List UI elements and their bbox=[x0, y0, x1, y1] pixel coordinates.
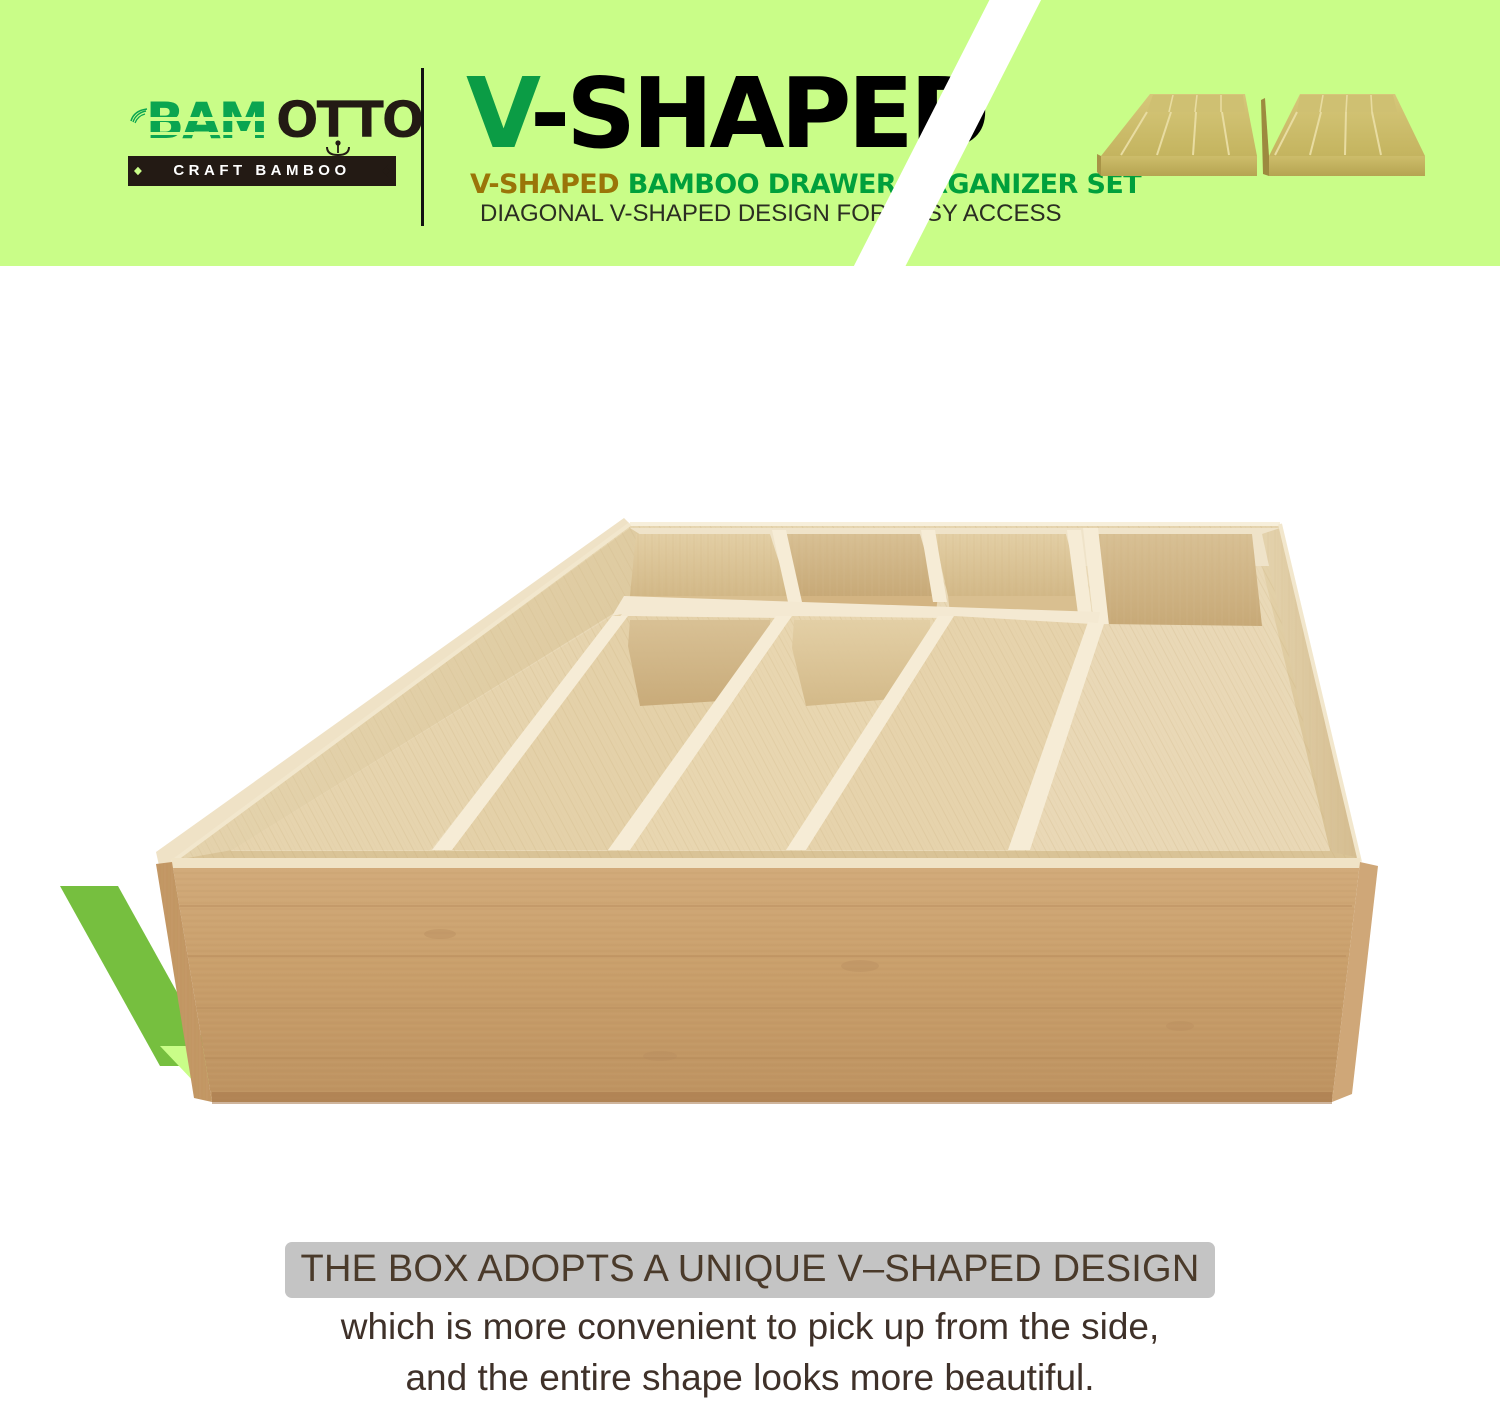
brand-name-green: BAM bbox=[146, 96, 267, 146]
product-infographic: BAM OTTO CRAFT BAMBOO V-SHA bbox=[0, 0, 1500, 1406]
page-title-accent: V bbox=[466, 57, 530, 170]
header-tagline: DIAGONAL V-SHAPED DESIGN FOR EASY ACCESS bbox=[480, 200, 1100, 228]
brand-wordmark: BAM OTTO bbox=[128, 96, 396, 154]
header-banner: BAM OTTO CRAFT BAMBOO V-SHA bbox=[0, 0, 1500, 266]
bamboo-segment-line-2 bbox=[146, 132, 274, 135]
brand-logo: BAM OTTO CRAFT BAMBOO bbox=[128, 96, 396, 188]
bamboo-segment-line-1 bbox=[146, 117, 274, 121]
header-divider bbox=[421, 68, 424, 226]
product-photo bbox=[0, 266, 1500, 1226]
brand-name-dark: OTTO bbox=[276, 95, 422, 145]
subtitle-prefix: V-SHAPED bbox=[470, 169, 619, 200]
caption-line-2: which is more convenient to pick up from… bbox=[0, 1305, 1500, 1349]
caption-block: THE BOX ADOPTS A UNIQUE V–SHAPED DESIGN … bbox=[0, 1230, 1500, 1406]
caption-line-3: and the entire shape looks more beautifu… bbox=[0, 1356, 1500, 1400]
caption-highlight-wrap: THE BOX ADOPTS A UNIQUE V–SHAPED DESIGN bbox=[285, 1242, 1216, 1298]
brand-ribbon-text: CRAFT BAMBOO bbox=[128, 156, 396, 186]
subtitle-rest: BAMBOO DRAWER ORGANIZER SET bbox=[628, 169, 1141, 200]
subtitle: V-SHAPED BAMBOO DRAWER ORGANIZER SET bbox=[470, 170, 1070, 200]
anchor-icon bbox=[324, 140, 352, 156]
header-product-thumbnail bbox=[1095, 78, 1435, 196]
product-illustration bbox=[0, 266, 1500, 1226]
caption-headline: THE BOX ADOPTS A UNIQUE V–SHAPED DESIGN bbox=[285, 1242, 1216, 1298]
